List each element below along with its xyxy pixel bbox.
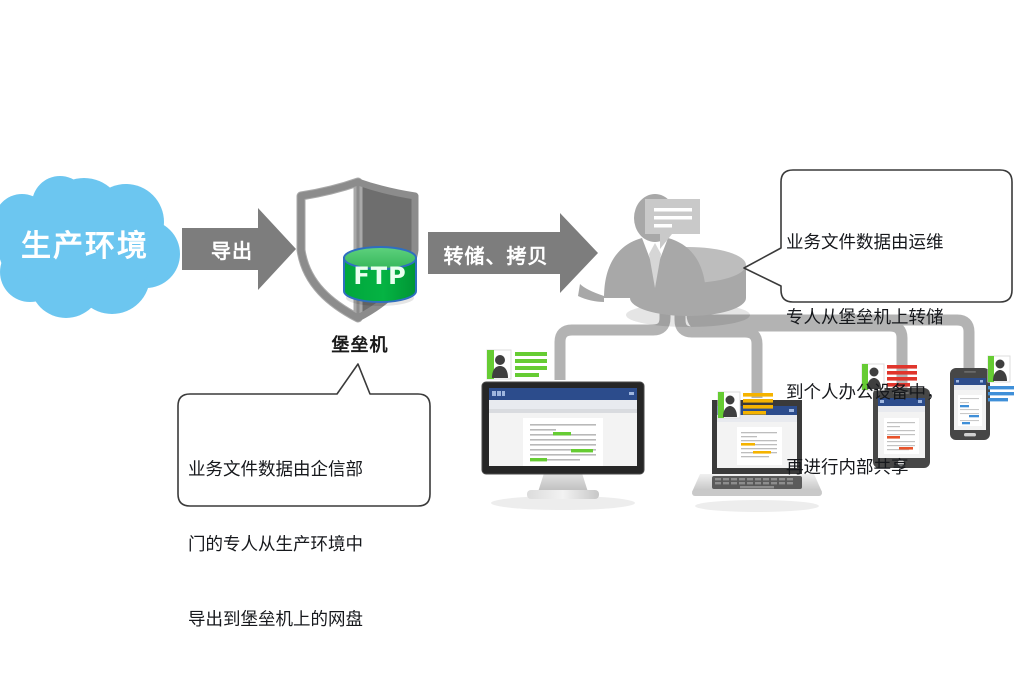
arrow-transfer-label: 转储、拷贝 (432, 240, 560, 269)
cloud-label: 生产环境 (0, 228, 170, 266)
callout-tr-line-3: 到个人办公设备中， (786, 381, 991, 406)
ftp-database-label: FTP (344, 262, 416, 290)
arrow-export-label: 导出 (186, 235, 278, 264)
callout-bl-line-2: 门的专人从生产环境中 (188, 533, 412, 558)
callout-bottom-left-text: 业务文件数据由企信部 门的专人从生产环境中 导出到堡垒机上的网盘 (188, 408, 412, 683)
callout-bl-line-3: 导出到堡垒机上的网盘 (188, 608, 412, 633)
callout-bl-line-1: 业务文件数据由企信部 (188, 458, 412, 483)
device-desktop-monitor (482, 382, 644, 510)
contact-card-desktop (487, 350, 547, 379)
bastion-host-label: 堡垒机 (300, 331, 420, 357)
diagram-canvas: 生产环境 导出 转储、拷贝 FTP 堡垒机 业务文件数据由运维 专人从堡垒机上转… (0, 0, 1015, 675)
callout-tr-line-1: 业务文件数据由运维 (786, 231, 991, 256)
callout-tr-line-4: 再进行内部共享 (786, 456, 991, 481)
contact-card-laptop (718, 392, 773, 418)
callout-tr-line-2: 专人从堡垒机上转储 (786, 306, 991, 331)
callout-top-right-text: 业务文件数据由运维 专人从堡垒机上转储 到个人办公设备中， 再进行内部共享 (786, 181, 991, 531)
contact-card-phone (988, 356, 1014, 401)
